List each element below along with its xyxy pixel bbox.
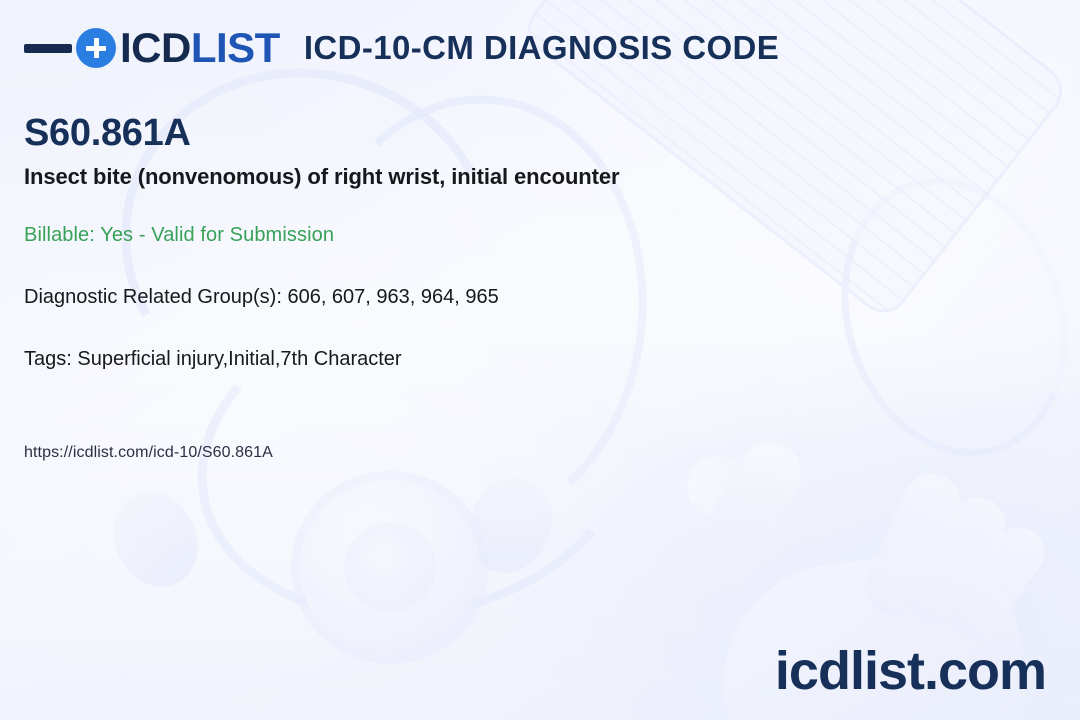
site-watermark: icdlist.com bbox=[775, 644, 1046, 698]
diagnosis-code: S60.861A bbox=[24, 112, 191, 155]
page-header: ICDLIST ICD-10-CM DIAGNOSIS CODE bbox=[24, 22, 779, 74]
logo-word-icd: ICD bbox=[120, 24, 191, 71]
plus-vertical-bar bbox=[94, 38, 99, 58]
page-title: ICD-10-CM DIAGNOSIS CODE bbox=[304, 29, 779, 67]
icdlist-logo[interactable]: ICDLIST bbox=[24, 22, 280, 74]
billable-status: Billable: Yes - Valid for Submission bbox=[24, 224, 334, 247]
dash-icon bbox=[24, 44, 72, 53]
icd-code-card: ICDLIST ICD-10-CM DIAGNOSIS CODE S60.861… bbox=[0, 0, 1080, 720]
tags-list: Tags: Superficial injury,Initial,7th Cha… bbox=[24, 348, 402, 371]
logo-word-list: LIST bbox=[191, 24, 280, 71]
content-layer: ICDLIST ICD-10-CM DIAGNOSIS CODE S60.861… bbox=[0, 0, 1080, 720]
diagnosis-description: Insect bite (nonvenomous) of right wrist… bbox=[24, 164, 619, 190]
plus-circle-icon bbox=[76, 28, 116, 68]
diagnostic-related-groups: Diagnostic Related Group(s): 606, 607, 9… bbox=[24, 286, 499, 309]
source-url-link[interactable]: https://icdlist.com/icd-10/S60.861A bbox=[24, 444, 273, 462]
